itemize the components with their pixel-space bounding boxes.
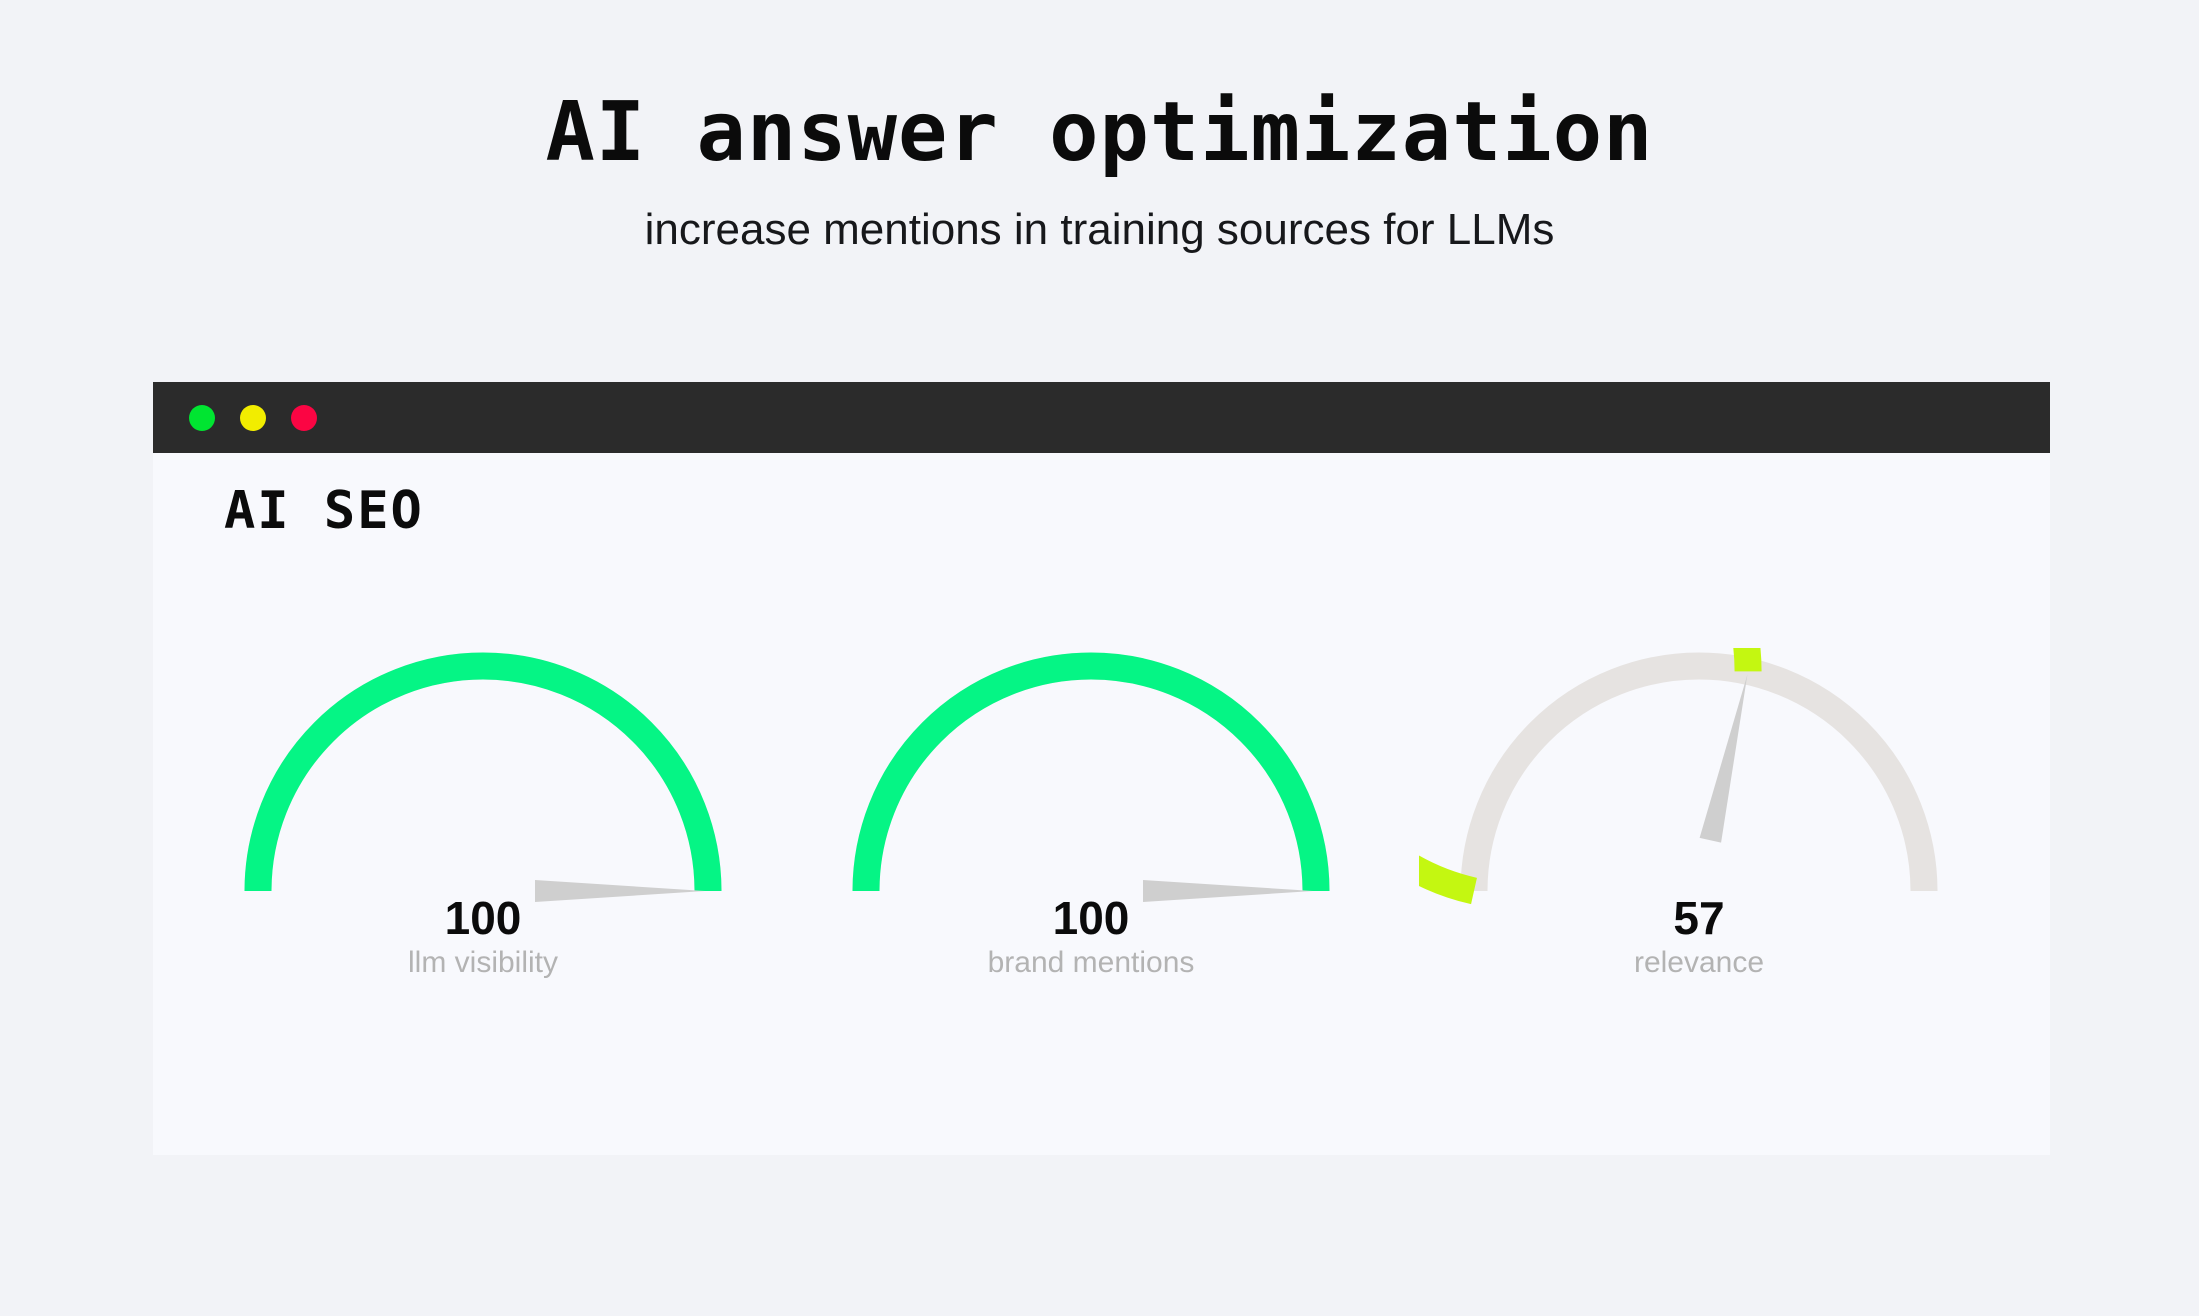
page-subtitle: increase mentions in training sources fo… [0, 174, 2199, 252]
traffic-light-green-icon[interactable] [189, 405, 215, 431]
traffic-light-red-icon[interactable] [291, 405, 317, 431]
gauge-value-arc [258, 666, 708, 891]
gauge-value-text: 100 [811, 895, 1371, 941]
gauge-brand-mentions[interactable]: 100 brand mentions [811, 648, 1371, 1048]
gauge-llm-visibility[interactable]: 100 llm visibility [203, 648, 763, 1048]
gauge-relevance[interactable]: 57 relevance [1419, 648, 1979, 1048]
panel-title: AI SEO [224, 485, 424, 537]
gauge-value-text: 100 [203, 895, 763, 941]
gauge-row: 100 llm visibility 100 brand mentions [153, 648, 2050, 1048]
gauge-arc-svg [811, 648, 1371, 1048]
gauge-needle [1700, 674, 1748, 842]
gauge-track-arc [866, 666, 1316, 891]
page-title: AI answer optimization [0, 0, 2199, 174]
gauge-track-arc [1474, 666, 1924, 891]
gauge-label-text: brand mentions [811, 948, 1371, 978]
gauge-arc-svg [1419, 648, 1979, 1048]
browser-window-mockup: AI SEO 100 llm visibility 100 brand m [153, 382, 2050, 1155]
gauge-value-text: 57 [1419, 895, 1979, 941]
browser-content: AI SEO 100 llm visibility 100 brand m [153, 453, 2050, 1155]
gauge-track-arc [258, 666, 708, 891]
gauge-label-text: llm visibility [203, 948, 763, 978]
traffic-light-yellow-icon[interactable] [240, 405, 266, 431]
gauge-label-text: relevance [1419, 948, 1979, 978]
gauge-value-arc [866, 666, 1316, 891]
gauge-arc-svg [203, 648, 763, 1048]
browser-titlebar [153, 382, 2050, 453]
page-header: AI answer optimization increase mentions… [0, 0, 2199, 252]
